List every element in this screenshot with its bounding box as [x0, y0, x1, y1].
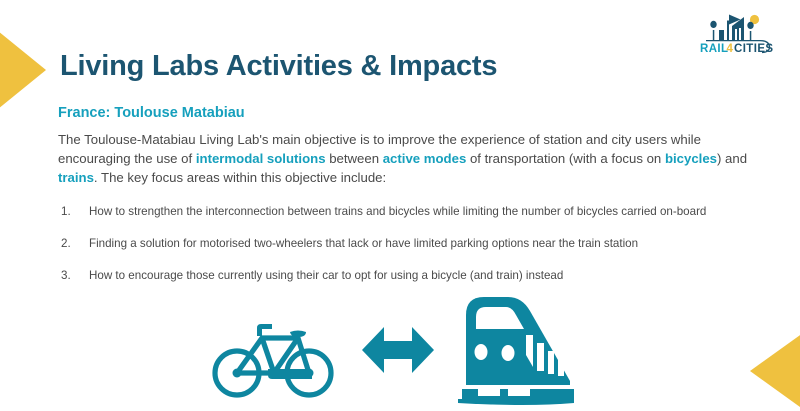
- highlight-trains: trains: [58, 170, 94, 185]
- highlight-intermodal-solutions: intermodal solutions: [196, 151, 326, 166]
- slide: RAIL 4 CITIES Living Labs Activities & I…: [0, 0, 800, 411]
- list-item-number: 3.: [58, 268, 89, 283]
- paragraph-seg-5: . The key focus areas within this object…: [94, 170, 386, 185]
- bicycle-icon: [212, 317, 334, 399]
- list-item: 3. How to encourage those currently usin…: [58, 268, 758, 283]
- icon-strip: [0, 287, 800, 407]
- chevron-right-decoration: [0, 18, 46, 122]
- rail4cities-logo: RAIL 4 CITIES: [686, 6, 786, 60]
- list-item-text: How to strengthen the interconnection be…: [89, 204, 758, 219]
- paragraph-seg-3: of transportation (with a focus on: [466, 151, 665, 166]
- logo-text-cities: CITIES: [734, 43, 773, 55]
- logo-text-four: 4: [727, 43, 734, 55]
- list-item: 1. How to strengthen the interconnection…: [58, 204, 758, 219]
- page-title: Living Labs Activities & Impacts: [60, 50, 497, 83]
- double-arrow-horizontal-icon: [362, 323, 434, 377]
- list-item-text: Finding a solution for motorised two-whe…: [89, 236, 758, 251]
- section-subtitle: France: Toulouse Matabiau: [58, 105, 758, 121]
- list-item: 2. Finding a solution for motorised two-…: [58, 236, 758, 251]
- logo-text-rail: RAIL: [700, 43, 728, 55]
- chevron-yellow-left: [0, 18, 46, 122]
- focus-areas-list: 1. How to strengthen the interconnection…: [58, 204, 758, 283]
- train-icon: [448, 289, 596, 407]
- list-item-number: 1.: [58, 204, 89, 219]
- content-area: France: Toulouse Matabiau The Toulouse-M…: [58, 105, 758, 300]
- list-item-text: How to encourage those currently using t…: [89, 268, 758, 283]
- highlight-active-modes: active modes: [383, 151, 467, 166]
- paragraph-seg-4: ) and: [717, 151, 747, 166]
- list-item-number: 2.: [58, 236, 89, 251]
- intro-paragraph: The Toulouse-Matabiau Living Lab's main …: [58, 130, 750, 187]
- highlight-bicycles: bicycles: [665, 151, 717, 166]
- paragraph-seg-2: between: [326, 151, 383, 166]
